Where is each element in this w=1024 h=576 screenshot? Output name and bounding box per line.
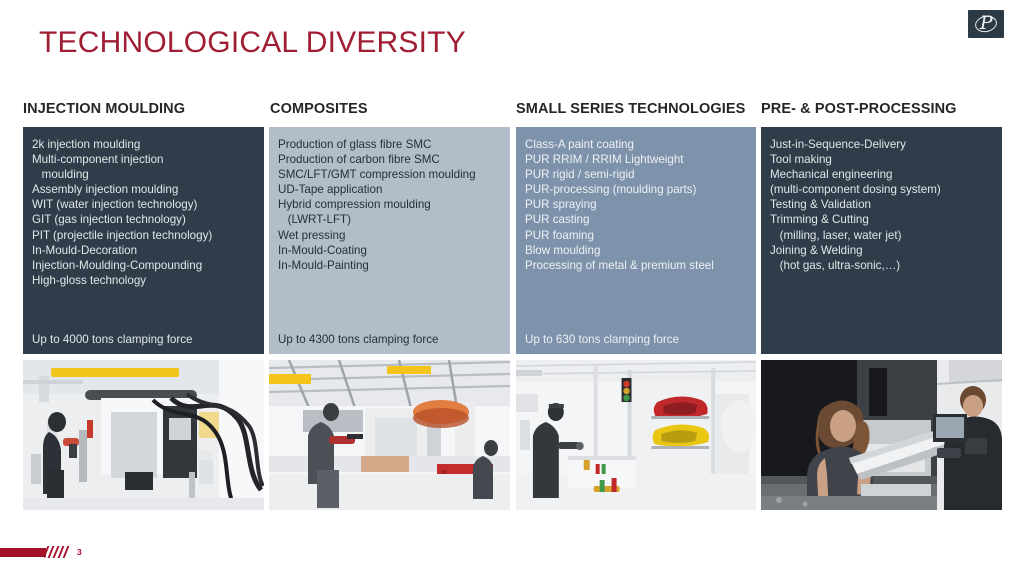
feature-list: Production of glass fibre SMC Production… — [278, 137, 501, 273]
list-item: PUR-processing (moulding parts) — [525, 182, 747, 197]
list-item: In-Mould-Decoration — [32, 243, 255, 258]
column-header-composites: COMPOSITES — [270, 101, 368, 117]
list-item: Injection-Moulding-Compounding — [32, 258, 255, 273]
list-item: (hot gas, ultra-sonic,…) — [770, 258, 993, 273]
panel-injection-moulding: 2k injection moulding Multi-component in… — [23, 127, 264, 354]
list-item: Class-A paint coating — [525, 137, 747, 152]
column-header-pre-post-processing: PRE- & POST-PROCESSING — [761, 101, 957, 117]
footer-accent-bar — [0, 548, 46, 557]
column-header-injection-moulding: INJECTION MOULDING — [23, 101, 185, 117]
photo-pre-post-processing — [761, 360, 1002, 510]
list-item: Production of glass fibre SMC — [278, 137, 501, 152]
feature-list: Class-A paint coating PUR RRIM / RRIM Li… — [525, 137, 747, 273]
list-item: Hybrid compression moulding — [278, 197, 501, 212]
list-item: In-Mould-Painting — [278, 258, 501, 273]
list-item: PUR RRIM / RRIM Lightweight — [525, 152, 747, 167]
list-item: SMC/LFT/GMT compression moulding — [278, 167, 501, 182]
list-item: (LWRT-LFT) — [278, 212, 501, 227]
list-item: PUR casting — [525, 212, 747, 227]
list-item: Processing of metal & premium steel — [525, 258, 747, 273]
list-item: PIT (projectile injection technology) — [32, 228, 255, 243]
list-item: Blow moulding — [525, 243, 747, 258]
list-item: Multi-component injection — [32, 152, 255, 167]
list-item: Production of carbon fibre SMC — [278, 152, 501, 167]
list-item: Assembly injection moulding — [32, 182, 255, 197]
list-item: Just-in-Sequence-Delivery — [770, 137, 993, 152]
list-item: PUR spraying — [525, 197, 747, 212]
photo-small-series-technologies — [516, 360, 756, 510]
list-item: (milling, laser, water jet) — [770, 228, 993, 243]
clamping-force-note: Up to 4000 tons clamping force — [32, 332, 192, 347]
list-item: (multi-component dosing system) — [770, 182, 993, 197]
list-item: Wet pressing — [278, 228, 501, 243]
list-item: PUR rigid / semi-rigid — [525, 167, 747, 182]
clamping-force-note: Up to 4300 tons clamping force — [278, 332, 438, 347]
panel-composites: Production of glass fibre SMC Production… — [269, 127, 510, 354]
list-item: GIT (gas injection technology) — [32, 212, 255, 227]
list-item: WIT (water injection technology) — [32, 197, 255, 212]
list-item: Tool making — [770, 152, 993, 167]
logo-letter: P — [980, 14, 992, 33]
list-item: moulding — [32, 167, 255, 182]
panel-pre-post-processing: Just-in-Sequence-Delivery Tool making Me… — [761, 127, 1002, 354]
footer-stripes-icon — [44, 546, 70, 558]
column-header-small-series-technologies: SMALL SERIES TECHNOLOGIES — [516, 101, 745, 117]
list-item: In-Mould-Coating — [278, 243, 501, 258]
panel-small-series-technologies: Class-A paint coating PUR RRIM / RRIM Li… — [516, 127, 756, 354]
list-item: 2k injection moulding — [32, 137, 255, 152]
feature-list: Just-in-Sequence-Delivery Tool making Me… — [770, 137, 993, 273]
clamping-force-note: Up to 630 tons clamping force — [525, 332, 679, 347]
photo-composites — [269, 360, 510, 510]
list-item: Joining & Welding — [770, 243, 993, 258]
list-item: High-gloss technology — [32, 273, 255, 288]
list-item: Testing & Validation — [770, 197, 993, 212]
photo-injection-moulding — [23, 360, 264, 510]
list-item: UD-Tape application — [278, 182, 501, 197]
company-logo: P — [968, 10, 1004, 38]
page-title: TECHNOLOGICAL DIVERSITY — [39, 26, 466, 60]
page-number: 3 — [77, 547, 82, 557]
list-item: Mechanical engineering — [770, 167, 993, 182]
list-item: PUR foaming — [525, 228, 747, 243]
list-item: Trimming & Cutting — [770, 212, 993, 227]
feature-list: 2k injection moulding Multi-component in… — [32, 137, 255, 288]
